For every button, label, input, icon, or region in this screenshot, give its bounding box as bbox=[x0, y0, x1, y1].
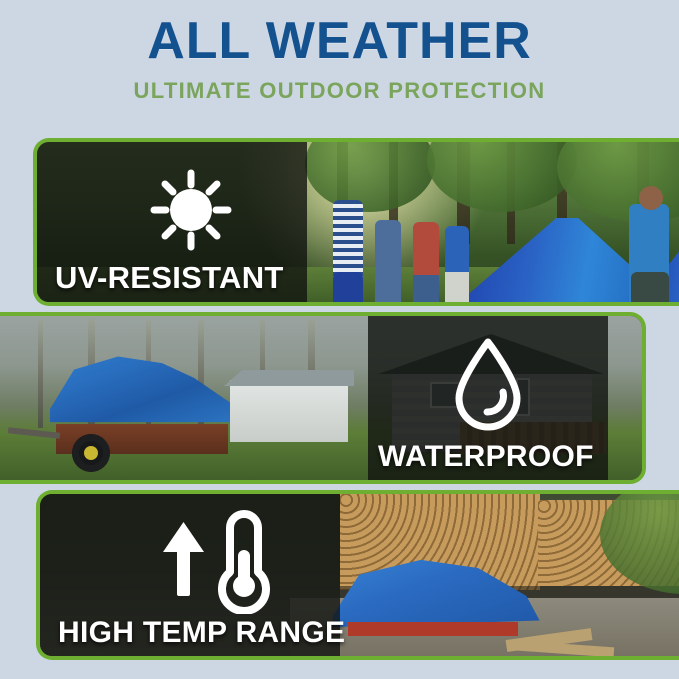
panel-caption-high-temp-range: HIGH TEMP RANGE bbox=[58, 616, 345, 650]
outbuilding-roof bbox=[224, 370, 354, 386]
feature-panel-waterproof: WATERPROOF bbox=[0, 312, 646, 484]
pallet-support bbox=[348, 622, 518, 636]
infographic-root: ALL WEATHER ULTIMATE OUTDOOR PROTECTION bbox=[0, 0, 679, 679]
outbuilding bbox=[230, 380, 348, 442]
wheel-hub bbox=[84, 446, 98, 460]
thermometer-up-icon bbox=[152, 510, 272, 614]
person-head bbox=[639, 186, 663, 210]
photo-tarp-trailer: WATERPROOF bbox=[0, 316, 642, 480]
person-figure bbox=[631, 272, 669, 302]
photo-tarp-logyard: HIGH TEMP RANGE bbox=[40, 494, 679, 656]
person-figure bbox=[413, 222, 439, 302]
panel-caption-uv-resistant: UV-RESISTANT bbox=[55, 260, 284, 296]
bare-tree bbox=[38, 319, 43, 427]
sun-icon bbox=[145, 164, 237, 256]
photo-campsite: UV-RESISTANT bbox=[37, 142, 679, 302]
feature-panel-uv-resistant: UV-RESISTANT bbox=[33, 138, 679, 306]
header: ALL WEATHER ULTIMATE OUTDOOR PROTECTION bbox=[0, 0, 679, 128]
feature-panel-high-temp-range: HIGH TEMP RANGE bbox=[36, 490, 679, 660]
person-figure bbox=[375, 220, 401, 302]
page-title: ALL WEATHER bbox=[0, 0, 679, 69]
panel-caption-waterproof: WATERPROOF bbox=[378, 440, 594, 474]
water-drop-icon bbox=[449, 336, 527, 432]
person-figure bbox=[333, 272, 363, 302]
person-figure bbox=[445, 226, 469, 302]
page-subtitle: ULTIMATE OUTDOOR PROTECTION bbox=[0, 69, 679, 103]
